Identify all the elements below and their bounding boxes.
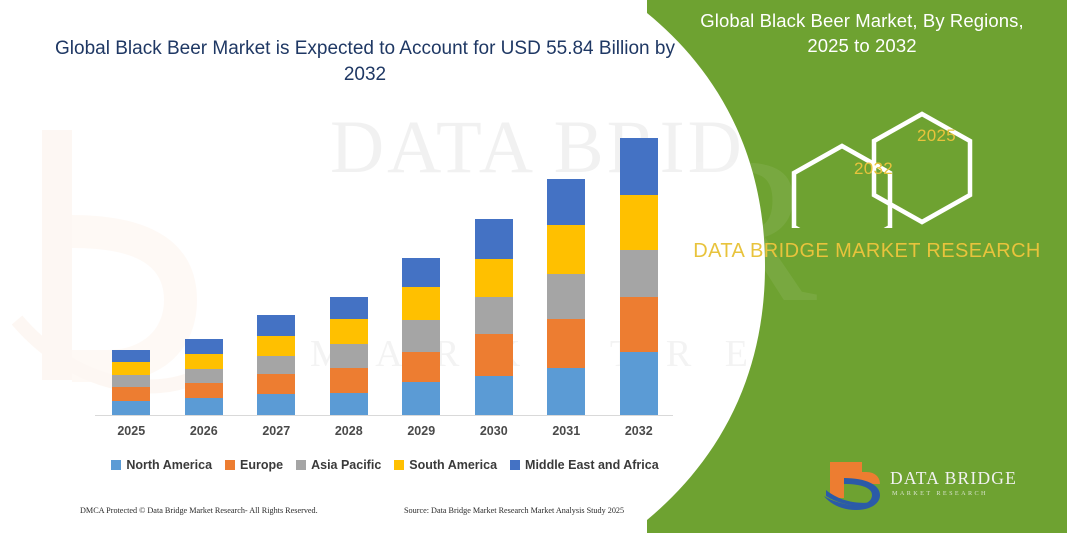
brand-name: DATA BRIDGE MARKET RESEARCH <box>677 238 1057 265</box>
legend-label: Europe <box>240 458 283 472</box>
bar-segment <box>475 259 513 297</box>
green-side-panel: R Global Black Beer Market, By Regions, … <box>647 0 1067 533</box>
bar-segment <box>330 344 368 368</box>
legend-label: Middle East and Africa <box>525 458 659 472</box>
x-axis-label-2025: 2025 <box>95 424 167 438</box>
bar-segment <box>330 368 368 393</box>
bar-segment <box>257 336 295 356</box>
chart-area: DATA BRIDGE M A R K E T R E S E A R C H … <box>0 0 700 533</box>
bar-segment <box>112 350 150 362</box>
dbmr-logo-mark-icon <box>822 458 892 512</box>
bar-segment <box>402 258 440 287</box>
page-title: Global Black Beer Market is Expected to … <box>55 36 675 88</box>
footer: DMCA Protected © Data Bridge Market Rese… <box>80 506 680 522</box>
panel-title: Global Black Beer Market, By Regions, 20… <box>677 8 1047 58</box>
legend-label: North America <box>126 458 212 472</box>
bar-segment <box>112 362 150 375</box>
bar-segment <box>402 352 440 382</box>
hexagon-2025-label: 2025 <box>917 126 956 146</box>
legend-swatch-icon <box>225 460 235 470</box>
bar-segment <box>330 393 368 416</box>
bar-segment <box>475 219 513 259</box>
x-axis-label-2031: 2031 <box>530 424 602 438</box>
panel-content: Global Black Beer Market, By Regions, 20… <box>647 0 1067 533</box>
bar-2028[interactable] <box>330 297 368 416</box>
x-axis-label-2027: 2027 <box>240 424 312 438</box>
chart-legend: North AmericaEuropeAsia PacificSouth Ame… <box>95 455 675 475</box>
legend-item-middle-east-and-africa[interactable]: Middle East and Africa <box>510 458 659 472</box>
legend-item-south-america[interactable]: South America <box>394 458 497 472</box>
bar-segment <box>257 394 295 416</box>
bar-segment <box>402 287 440 321</box>
bar-segment <box>112 375 150 387</box>
bar-segment <box>185 398 223 416</box>
x-axis-line <box>95 415 673 416</box>
bar-segment <box>475 297 513 335</box>
legend-item-asia-pacific[interactable]: Asia Pacific <box>296 458 381 472</box>
bar-segment <box>185 339 223 354</box>
legend-item-europe[interactable]: Europe <box>225 458 283 472</box>
bar-segment <box>257 356 295 374</box>
stacked-bar-chart <box>95 120 675 416</box>
bar-segment <box>475 334 513 376</box>
bar-2029[interactable] <box>402 258 440 416</box>
bar-segment <box>257 374 295 394</box>
bar-segment <box>330 297 368 320</box>
legend-swatch-icon <box>296 460 306 470</box>
bar-segment <box>547 319 585 368</box>
legend-swatch-icon <box>510 460 520 470</box>
bar-segment <box>185 383 223 398</box>
bar-2030[interactable] <box>475 219 513 416</box>
bar-segment <box>185 354 223 369</box>
hexagon-2032-label: 2032 <box>854 159 893 179</box>
bar-segment <box>475 376 513 416</box>
bar-segment <box>547 274 585 320</box>
bar-segment <box>547 225 585 274</box>
footer-copyright: DMCA Protected © Data Bridge Market Rese… <box>80 506 318 515</box>
hexagon-pair-graphic <box>767 108 1057 228</box>
bar-2025[interactable] <box>112 350 150 416</box>
bar-segment <box>402 382 440 416</box>
bar-2031[interactable] <box>547 179 585 416</box>
bar-segment <box>547 179 585 225</box>
legend-swatch-icon <box>111 460 121 470</box>
bar-2026[interactable] <box>185 339 223 416</box>
bar-segment <box>112 401 150 416</box>
legend-label: Asia Pacific <box>311 458 381 472</box>
bar-segment <box>547 368 585 416</box>
x-axis-label-2028: 2028 <box>313 424 385 438</box>
bar-segment <box>402 320 440 352</box>
footer-source: Source: Data Bridge Market Research Mark… <box>404 506 624 515</box>
bar-segment <box>185 369 223 383</box>
legend-swatch-icon <box>394 460 404 470</box>
dbmr-logo-subtext: MARKET RESEARCH <box>892 490 988 497</box>
legend-label: South America <box>409 458 497 472</box>
legend-item-north-america[interactable]: North America <box>111 458 212 472</box>
dbmr-logo: DATA BRIDGE MARKET RESEARCH <box>822 458 1047 516</box>
bar-2027[interactable] <box>257 315 295 416</box>
x-axis-labels: 20252026202720282029203020312032 <box>95 424 675 444</box>
infographic-root: DATA BRIDGE M A R K E T R E S E A R C H … <box>0 0 1067 533</box>
dbmr-logo-text: DATA BRIDGE <box>890 468 1017 489</box>
x-axis-label-2026: 2026 <box>168 424 240 438</box>
x-axis-label-2029: 2029 <box>385 424 457 438</box>
bar-segment <box>112 387 150 401</box>
bar-segment <box>330 319 368 344</box>
bar-segment <box>257 315 295 336</box>
x-axis-label-2030: 2030 <box>458 424 530 438</box>
